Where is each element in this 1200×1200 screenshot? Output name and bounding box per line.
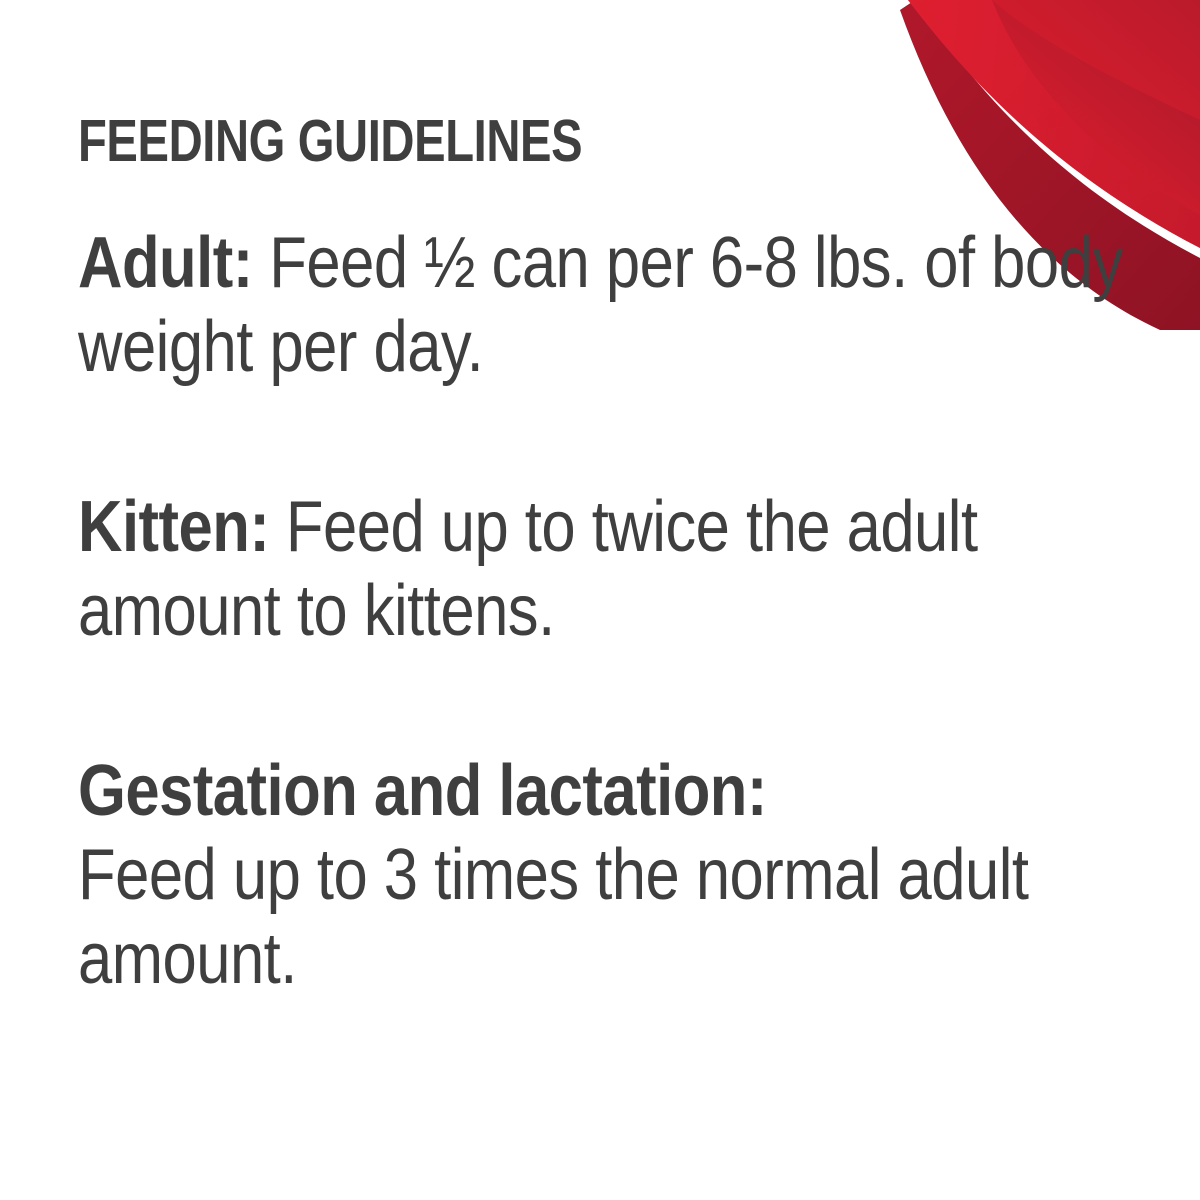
section-kitten: Kitten: Feed up to twice the adult amoun… bbox=[78, 485, 1138, 653]
panel-content: FEEDING GUIDELINES Adult: Feed ½ can per… bbox=[78, 112, 1138, 1001]
section-kitten-label: Kitten: bbox=[78, 487, 269, 567]
feeding-guidelines-panel: FEEDING GUIDELINES Adult: Feed ½ can per… bbox=[0, 0, 1200, 1200]
section-gestation-label: Gestation and lactation: bbox=[78, 751, 767, 831]
section-adult-text: Adult: Feed ½ can per 6-8 lbs. of body w… bbox=[78, 221, 1147, 389]
page-title: FEEDING GUIDELINES bbox=[78, 112, 926, 171]
section-adult-label: Adult: bbox=[78, 223, 253, 303]
section-gestation-label-line: Gestation and lactation: bbox=[78, 749, 1147, 833]
section-kitten-text: Kitten: Feed up to twice the adult amoun… bbox=[78, 485, 1147, 653]
section-gestation-body: Feed up to 3 times the normal adult amou… bbox=[78, 833, 1147, 1001]
section-gestation-lactation: Gestation and lactation: Feed up to 3 ti… bbox=[78, 749, 1138, 1001]
section-adult: Adult: Feed ½ can per 6-8 lbs. of body w… bbox=[78, 221, 1138, 389]
swoosh-sheen bbox=[992, 0, 1200, 120]
